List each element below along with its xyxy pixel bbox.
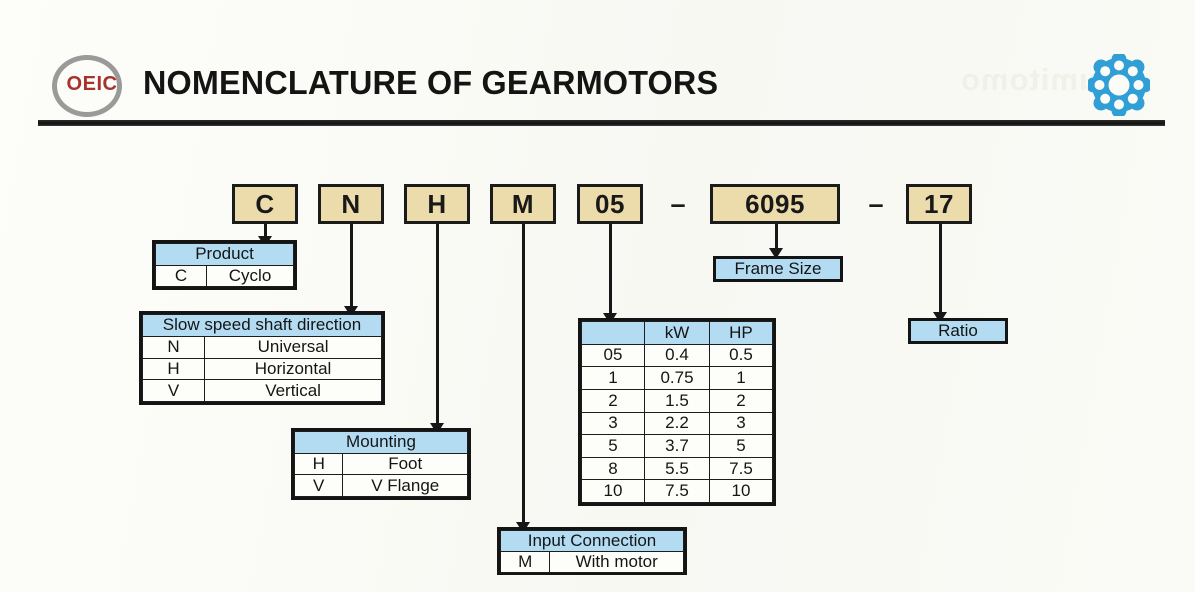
table-motor-power-header-row: kW HP: [582, 322, 773, 345]
cycloidal-gear-icon: [1088, 54, 1150, 116]
table-row: 10 7.5 10: [582, 480, 773, 503]
table-motor-power-hp-1: 1: [709, 367, 772, 390]
table-shaft-direction-desc-2: Vertical: [205, 380, 382, 402]
table-input-connection-desc-0: With motor: [550, 552, 684, 573]
table-mounting-desc-1: V Flange: [343, 475, 468, 497]
table-motor-power-kw-3: 2.2: [645, 412, 710, 435]
table-input-connection: Input Connection M With motor: [497, 527, 687, 575]
table-motor-power-hp-6: 10: [709, 480, 772, 503]
table-mounting: Mounting H Foot V V Flange: [291, 428, 471, 500]
oeic-logo: OEIC: [52, 55, 130, 117]
code-box-product[interactable]: C: [232, 184, 298, 224]
connector-line-input-connection: [522, 224, 525, 524]
code-separator-dash-1: –: [660, 184, 696, 224]
table-motor-power-code-5: 8: [582, 457, 645, 480]
table-motor-power-kw-2: 1.5: [645, 389, 710, 412]
table-row: C Cyclo: [156, 265, 294, 287]
table-motor-power-hp-2: 2: [709, 389, 772, 412]
table-shaft-direction-desc-1: Horizontal: [205, 358, 382, 380]
table-motor-power-code-4: 5: [582, 435, 645, 458]
connector-line-motor-power: [609, 224, 612, 315]
page-header: OEIC NOMENCLATURE OF GEARMOTORS Sumitomo: [0, 0, 1195, 135]
table-shaft-direction: Slow speed shaft direction N Universal H…: [139, 311, 385, 405]
table-motor-power-kw-6: 7.5: [645, 480, 710, 503]
table-motor-power-col-2: HP: [709, 322, 772, 345]
table-motor-power-hp-4: 5: [709, 435, 772, 458]
table-shaft-direction-code-2: V: [143, 380, 205, 402]
table-row: V Vertical: [143, 380, 382, 402]
table-row: 05 0.4 0.5: [582, 344, 773, 367]
table-motor-power-hp-0: 0.5: [709, 344, 772, 367]
table-row: M With motor: [501, 552, 684, 573]
code-box-input-connection[interactable]: M: [490, 184, 556, 224]
table-mounting-code-1: V: [295, 475, 343, 497]
table-row: 1 0.75 1: [582, 367, 773, 390]
table-motor-power-kw-0: 0.4: [645, 344, 710, 367]
header-divider: [38, 120, 1165, 126]
table-mounting-code-0: H: [295, 453, 343, 475]
connector-line-ratio: [939, 224, 942, 314]
code-box-ratio[interactable]: 17: [906, 184, 972, 224]
table-motor-power-kw-4: 3.7: [645, 435, 710, 458]
table-motor-power-kw-5: 5.5: [645, 457, 710, 480]
page-title: NOMENCLATURE OF GEARMOTORS: [143, 64, 718, 102]
table-motor-power-code-6: 10: [582, 480, 645, 503]
table-mounting-desc-0: Foot: [343, 453, 468, 475]
logo-text: OEIC: [56, 73, 128, 96]
table-input-connection-code-0: M: [501, 552, 550, 573]
table-product: Product C Cyclo: [152, 240, 297, 290]
table-motor-power-col-1: kW: [645, 322, 710, 345]
table-row: 3 2.2 3: [582, 412, 773, 435]
table-motor-power: kW HP 05 0.4 0.5 1 0.75 1 2 1.5 2 3 2.2 …: [578, 318, 776, 506]
table-mounting-header: Mounting: [295, 432, 468, 454]
connector-line-shaft-direction: [350, 224, 353, 308]
table-row: 2 1.5 2: [582, 389, 773, 412]
table-row: 5 3.7 5: [582, 435, 773, 458]
table-product-code-0: C: [156, 265, 207, 287]
table-shaft-direction-code-1: H: [143, 358, 205, 380]
code-box-frame-size[interactable]: 6095: [710, 184, 840, 224]
table-row: H Horizontal: [143, 358, 382, 380]
code-box-motor-power[interactable]: 05: [577, 184, 643, 224]
table-motor-power-hp-5: 7.5: [709, 457, 772, 480]
table-shaft-direction-code-0: N: [143, 336, 205, 358]
table-shaft-direction-header: Slow speed shaft direction: [143, 315, 382, 337]
table-row: V V Flange: [295, 475, 468, 497]
table-row: 8 5.5 7.5: [582, 457, 773, 480]
connector-line-mounting: [436, 224, 439, 425]
table-motor-power-code-3: 3: [582, 412, 645, 435]
label-frame-size: Frame Size: [713, 256, 843, 282]
connector-line-frame-size: [775, 224, 778, 250]
code-box-shaft-direction[interactable]: N: [318, 184, 384, 224]
table-motor-power-code-0: 05: [582, 344, 645, 367]
label-ratio: Ratio: [908, 318, 1008, 344]
table-input-connection-header: Input Connection: [501, 531, 684, 552]
table-motor-power-code-2: 2: [582, 389, 645, 412]
code-box-mounting[interactable]: H: [404, 184, 470, 224]
table-motor-power-hp-3: 3: [709, 412, 772, 435]
table-row: H Foot: [295, 453, 468, 475]
table-motor-power-code-1: 1: [582, 367, 645, 390]
code-separator-dash-2: –: [858, 184, 894, 224]
table-shaft-direction-desc-0: Universal: [205, 336, 382, 358]
table-product-desc-0: Cyclo: [207, 265, 294, 287]
table-motor-power-kw-1: 0.75: [645, 367, 710, 390]
table-product-header: Product: [156, 244, 294, 266]
table-motor-power-col-0: [582, 322, 645, 345]
table-row: N Universal: [143, 336, 382, 358]
